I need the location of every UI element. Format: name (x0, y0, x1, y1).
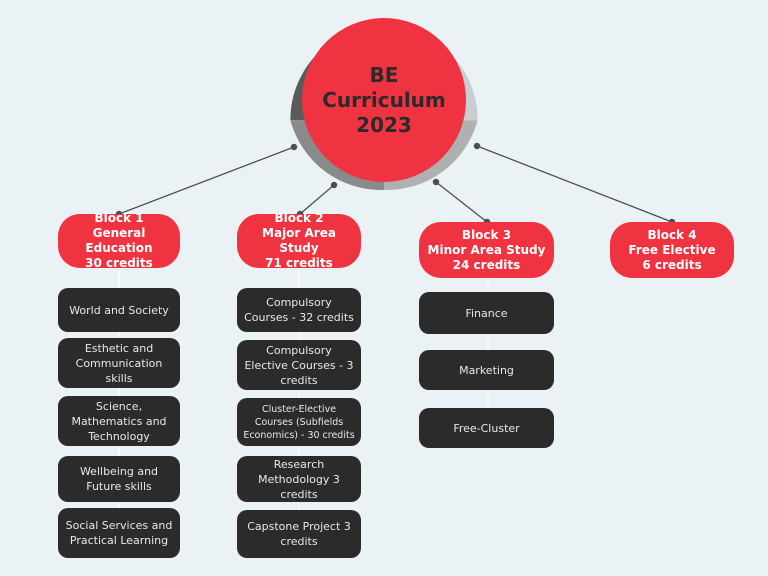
block-2-subtitle: Major Area Study (243, 226, 355, 256)
block-1-subtitle: General Education (64, 226, 174, 256)
leaf-2-1[interactable]: Compulsory Courses - 32 credits (237, 288, 361, 332)
block-2-title: Block 2 (243, 211, 355, 226)
connector-block-4 (477, 146, 672, 222)
block-node-4[interactable]: Block 4 Free Elective 6 credits (610, 222, 734, 278)
connector-block-2 (300, 185, 334, 214)
block-2-credits: 71 credits (243, 256, 355, 271)
block-node-2[interactable]: Block 2 Major Area Study 71 credits (237, 214, 361, 268)
block-4-credits: 6 credits (628, 258, 715, 273)
block-3-subtitle: Minor Area Study (428, 243, 546, 258)
leaf-1-4[interactable]: Wellbeing and Future skills (58, 456, 180, 502)
block-node-4-text: Block 4 Free Elective 6 credits (628, 228, 715, 273)
leaf-3-1[interactable]: Finance (419, 292, 554, 334)
block-node-3-text: Block 3 Minor Area Study 24 credits (428, 228, 546, 273)
hub-node[interactable]: BE Curriculum 2023 (302, 18, 466, 182)
connector-dot (433, 179, 438, 184)
block-4-subtitle: Free Elective (628, 243, 715, 258)
leaf-1-2[interactable]: Esthetic and Communication skills (58, 338, 180, 388)
block-node-2-text: Block 2 Major Area Study 71 credits (243, 211, 355, 271)
hub-title: BE Curriculum 2023 (322, 63, 446, 138)
block-3-credits: 24 credits (428, 258, 546, 273)
leaf-2-3[interactable]: Cluster-Elective Courses (Subfields Econ… (237, 398, 361, 446)
leaf-1-3[interactable]: Science, Mathematics and Technology (58, 396, 180, 446)
hub-line-3: 2023 (322, 113, 446, 138)
leaf-3-3[interactable]: Free-Cluster (419, 408, 554, 448)
leaf-3-2[interactable]: Marketing (419, 350, 554, 390)
block-node-1-text: Block 1 General Education 30 credits (64, 211, 174, 271)
hub-line-2: Curriculum (322, 88, 446, 113)
leaf-2-4[interactable]: Research Methodology 3 credits (237, 456, 361, 502)
hub-line-1: BE (322, 63, 446, 88)
leaf-2-2[interactable]: Compulsory Elective Courses - 3 credits (237, 340, 361, 390)
leaf-1-1[interactable]: World and Society (58, 288, 180, 332)
connector-block-3 (436, 182, 487, 222)
leaf-1-5[interactable]: Social Services and Practical Learning (58, 508, 180, 558)
block-node-3[interactable]: Block 3 Minor Area Study 24 credits (419, 222, 554, 278)
connector-dot (331, 182, 336, 187)
block-1-credits: 30 credits (64, 256, 174, 271)
leaf-2-5[interactable]: Capstone Project 3 credits (237, 510, 361, 558)
block-3-title: Block 3 (428, 228, 546, 243)
connector-block-1 (119, 147, 294, 214)
connector-dot (474, 143, 479, 148)
connector-dot (291, 144, 296, 149)
block-1-title: Block 1 (64, 211, 174, 226)
block-node-1[interactable]: Block 1 General Education 30 credits (58, 214, 180, 268)
block-4-title: Block 4 (628, 228, 715, 243)
